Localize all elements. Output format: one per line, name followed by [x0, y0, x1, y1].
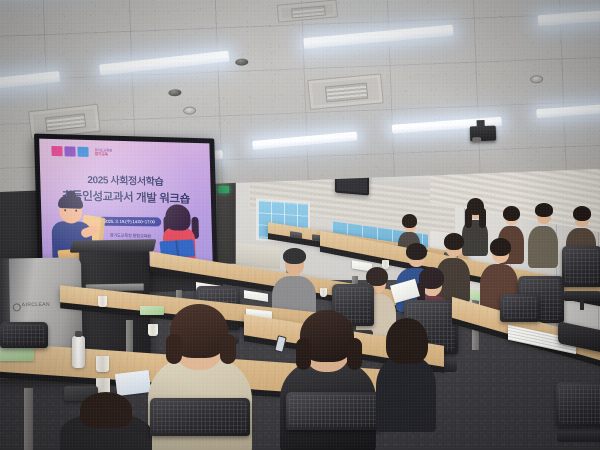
slide-logo: 경기도교육청 경기교육 — [51, 146, 112, 158]
participant-dark-right-fg — [376, 318, 436, 428]
office-chair[interactable] — [0, 322, 48, 362]
water-bottle — [72, 336, 85, 368]
table-leg — [24, 388, 33, 450]
paper-cup — [96, 356, 109, 372]
logo-wordmark: 경기도교육청 경기교육 — [94, 148, 112, 157]
participant-foreground-left — [60, 396, 152, 450]
document-handout — [115, 370, 151, 396]
logo-square-purple — [64, 146, 75, 156]
office-chair[interactable] — [562, 246, 600, 310]
exit-sign-icon — [218, 186, 229, 193]
logo-wordmark-line2: 경기교육 — [95, 152, 113, 157]
logo-square-pink — [51, 146, 62, 156]
office-chair[interactable] — [150, 398, 250, 450]
ceiling-projector — [470, 126, 497, 142]
logo-square-blue — [77, 147, 88, 157]
office-chair[interactable] — [500, 294, 540, 338]
office-chair[interactable] — [556, 382, 600, 450]
paper-cup — [320, 288, 327, 297]
office-chair[interactable] — [286, 392, 382, 450]
participant-olive-jacket — [528, 204, 558, 266]
slide-date-badge: 2025. 3. 19.(수) 14:00~17:00 — [98, 217, 161, 227]
paper-cup — [98, 296, 107, 307]
photograph-seminar-room: 경기도교육청 경기교육 2025 사회정서학습 초등인성교과서 개발 워크숍 2… — [0, 0, 600, 450]
